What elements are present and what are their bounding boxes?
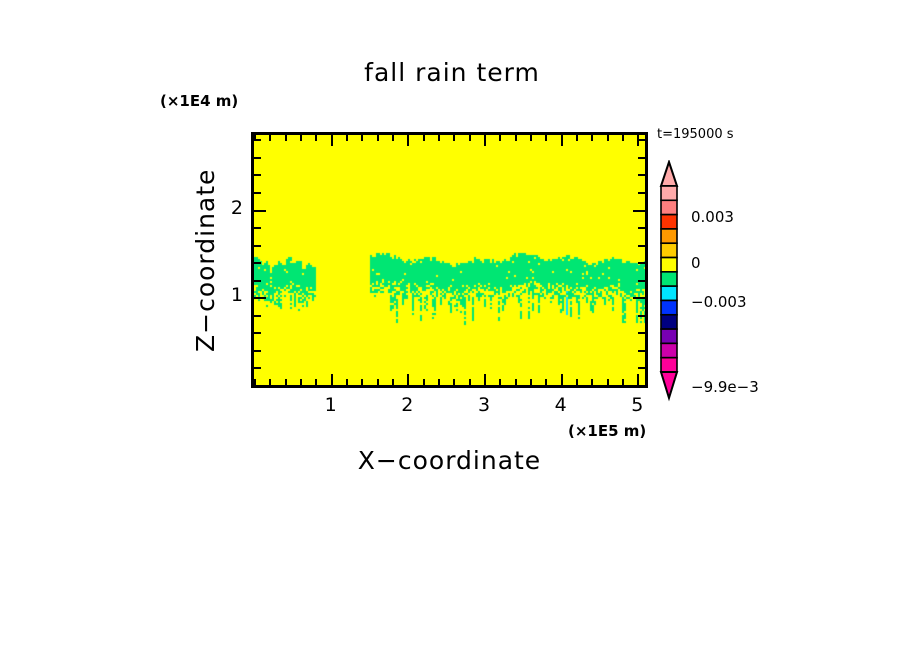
x-tick-label: 2 [387,394,427,416]
colorbar-tick-label: −9.9e−3 [691,378,759,396]
colorbar-band [661,286,677,300]
colorbar-band [661,243,677,257]
timestamp-annotation: t=195000 s [657,127,734,142]
colorbar-band [661,258,677,272]
colorbar-band [661,272,677,286]
colorbar-band [661,200,677,214]
x-tick-label: 3 [464,394,504,416]
colorbar-tick-label: −0.003 [691,293,747,311]
colorbar-band [661,186,677,200]
x-axis-title: X−coordinate [251,446,648,475]
page-title: fall rain term [0,58,904,87]
x-tick-label: 1 [311,394,351,416]
colorbar-swatches [655,160,685,416]
y-axis-title: Z−coordinate [191,160,225,360]
colorbar-band [661,229,677,243]
colorbar-band [661,300,677,314]
plot-area [251,132,648,388]
colorbar-band [661,315,677,329]
colorbar-bottom-arrow [661,372,677,398]
rain-field-heatmap [254,135,645,385]
colorbar: 0.0030−0.003−9.9e−3 [655,160,805,416]
x-tick-label: 4 [541,394,581,416]
colorbar-top-arrow [661,162,677,186]
colorbar-band [661,343,677,357]
x-tick-label: 5 [617,394,657,416]
colorbar-band [661,215,677,229]
colorbar-tick-label: 0.003 [691,208,734,226]
colorbar-tick-label: 0 [691,254,701,272]
x-axis-unit-label: (×1E5 m) [568,422,646,440]
colorbar-band [661,358,677,372]
colorbar-band [661,329,677,343]
y-axis-unit-label: (×1E4 m) [160,92,238,110]
